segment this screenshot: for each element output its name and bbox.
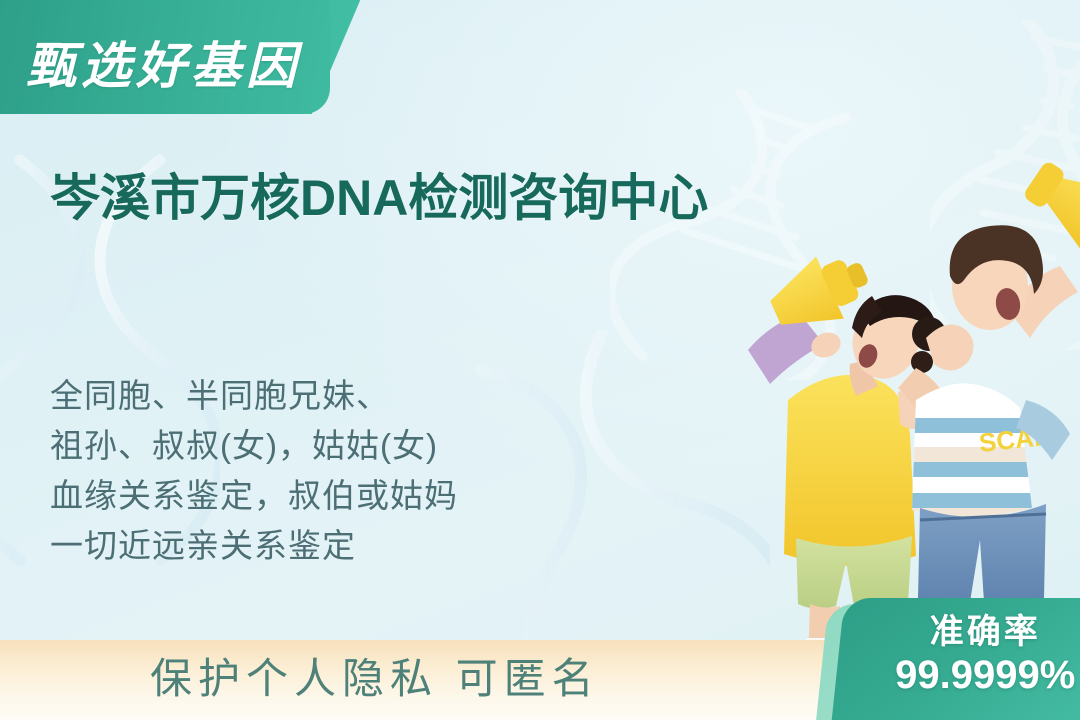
accuracy-badge-value: 99.9999% — [869, 652, 1080, 698]
accuracy-badge-content: 准确率 99.9999% — [839, 598, 1080, 698]
page-title: 岑溪市万核DNA检测咨询中心 — [50, 158, 708, 230]
service-line-1: 全同胞、半同胞兄妹、 — [50, 372, 458, 420]
service-description: 全同胞、半同胞兄妹、 祖孙、叔叔(女)，姑姑(女) 血缘关系鉴定，叔伯或姑妈 一… — [50, 372, 458, 572]
people-with-megaphones-photo: SCAM — [740, 100, 1080, 660]
brand-logo-text: 甄选好基因 — [26, 26, 301, 98]
service-line-2: 祖孙、叔叔(女)，姑姑(女) — [50, 422, 458, 470]
banner-canvas: SCAM 甄选好基因 岑溪市万核DNA检测咨询中心 全同胞、半同胞兄妹、 祖孙、… — [0, 0, 1080, 720]
service-line-4: 一切近远亲关系鉴定 — [50, 522, 458, 570]
accuracy-badge-label: 准确率 — [869, 612, 1080, 652]
accuracy-badge: 准确率 99.9999% — [831, 598, 1080, 720]
service-line-3: 血缘关系鉴定，叔伯或姑妈 — [50, 472, 458, 520]
privacy-bar-text: 保护个人隐私 可匿名 — [150, 645, 600, 706]
